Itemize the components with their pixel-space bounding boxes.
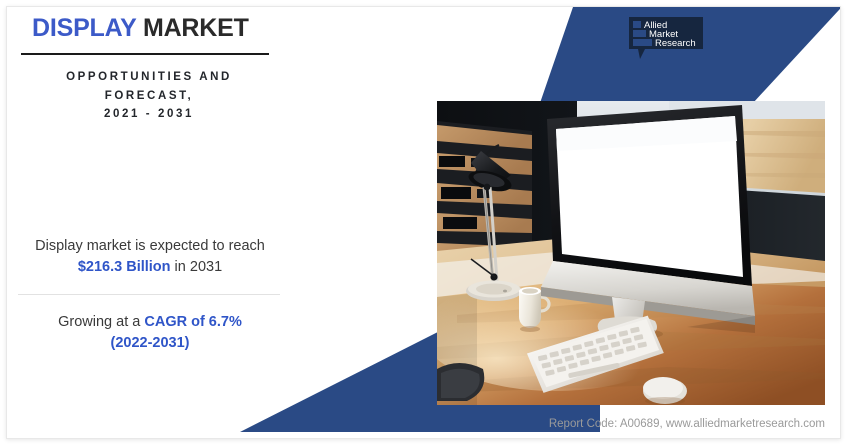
stat-group: Display market is expected to reach $216… — [14, 236, 286, 354]
allied-market-research-logo: Allied Market Research — [627, 16, 705, 62]
page-title-highlight: DISPLAY — [32, 14, 136, 42]
page-title-rest: MARKET — [136, 14, 248, 42]
subtitle-line-2: FORECAST, — [20, 87, 278, 106]
left-text-panel: DISPLAY MARKET OPPORTUNITIES AND FORECAS… — [20, 14, 300, 124]
page-title: DISPLAY MARKET — [20, 14, 300, 43]
report-footer-note: Report Code: A00689, www.alliedmarketres… — [549, 418, 825, 430]
market-size-stat: Display market is expected to reach $216… — [14, 236, 286, 278]
cagr-stat: Growing at a CAGR of 6.7%(2022-2031) — [14, 312, 286, 354]
infographic-card: Allied Market Research DISPLAY MARKET OP… — [0, 0, 847, 445]
logo-line-3: Research — [655, 38, 696, 49]
market-size-value: $216.3 Billion — [78, 259, 171, 275]
cagr-value: CAGR of 6.7% — [144, 314, 242, 330]
subtitle-line-3: 2021 - 2031 — [20, 105, 278, 124]
market-size-prefix: Display market is expected to reach — [35, 238, 265, 254]
desk-with-computer-monitor-photo — [437, 101, 825, 405]
subtitle-line-1: OPPORTUNITIES AND — [20, 68, 278, 87]
subtitle-block: OPPORTUNITIES AND FORECAST, 2021 - 2031 — [20, 68, 278, 124]
cagr-prefix: Growing at a — [58, 314, 144, 330]
cagr-period: (2022-2031) — [111, 335, 190, 351]
stat-divider — [18, 294, 280, 295]
market-size-suffix: in 2031 — [171, 259, 223, 275]
title-divider — [21, 53, 269, 55]
